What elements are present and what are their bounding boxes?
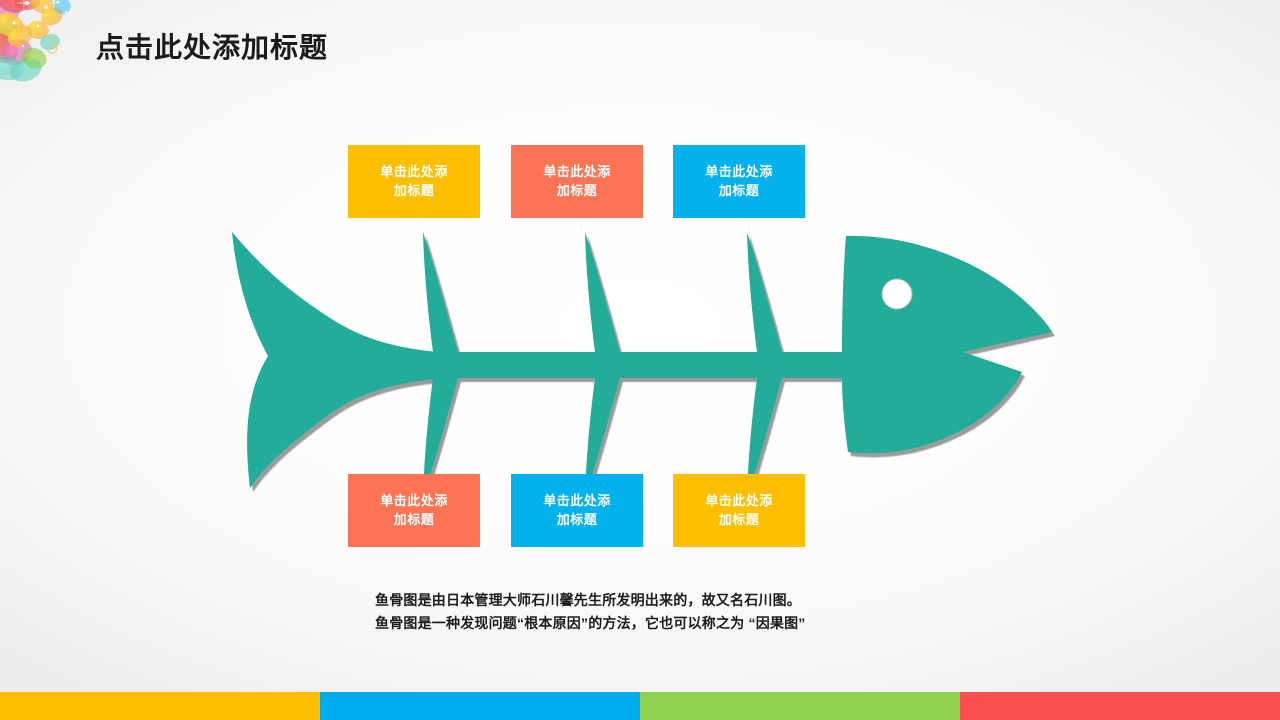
bottom-label-3-line1: 单击此处添 [705,492,773,511]
top-label-2-line2: 加标题 [557,182,598,201]
slide-header: 点击此处添加标题 [0,0,1280,86]
fish-rib-top-2 [585,232,620,352]
top-label-1-line1: 单击此处添 [380,163,448,182]
floral-splash-icon [0,0,104,85]
page-title: 点击此处添加标题 [96,26,328,66]
bottom-label-3-line2: 加标题 [719,511,760,530]
bottom-label-3[interactable]: 单击此处添 加标题 [673,474,805,547]
top-label-2[interactable]: 单击此处添 加标题 [511,145,643,218]
slide-canvas: 点击此处添加标题 单击此处添 [0,0,1280,720]
fish-rib-top-3 [747,232,782,352]
top-label-2-line1: 单击此处添 [543,163,611,182]
top-label-3-line1: 单击此处添 [705,163,773,182]
bottom-label-1-line1: 单击此处添 [380,492,448,511]
top-label-3-line2: 加标题 [719,182,760,201]
top-label-1-line2: 加标题 [394,182,435,201]
bar-segment-yellow [0,692,320,720]
bottom-label-2-line2: 加标题 [557,511,598,530]
caption-block: 鱼骨图是由日本管理大师石川馨先生所发明出来的，故又名石川图。 鱼骨图是一种发现问… [375,589,806,634]
fish-spine [440,352,888,378]
top-label-1[interactable]: 单击此处添 加标题 [348,145,480,218]
top-label-3[interactable]: 单击此处添 加标题 [673,145,805,218]
bottom-label-2[interactable]: 单击此处添 加标题 [511,474,643,547]
bottom-label-2-line1: 单击此处添 [543,492,611,511]
bar-segment-blue [320,692,640,720]
bar-segment-green [640,692,960,720]
caption-line-1: 鱼骨图是由日本管理大师石川馨先生所发明出来的，故又名石川图。 [375,589,806,612]
bottom-label-1[interactable]: 单击此处添 加标题 [348,474,480,547]
caption-line-2: 鱼骨图是一种发现问题“根本原因”的方法，它也可以称之为 “因果图” [375,612,806,635]
bar-segment-red [960,692,1280,720]
fish-head [842,236,1052,453]
bottom-color-bar [0,692,1280,720]
fish-eye [882,279,912,309]
fish-rib-top-1 [423,232,458,352]
fish-tail [232,232,452,488]
bottom-label-1-line2: 加标题 [394,511,435,530]
